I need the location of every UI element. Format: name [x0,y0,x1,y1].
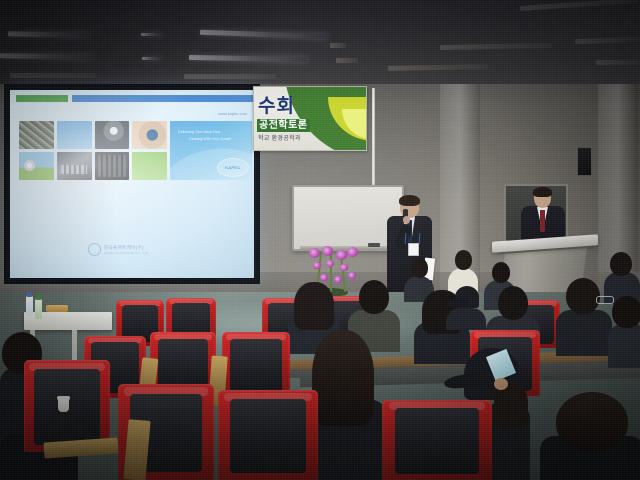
ceiling-light [8,31,88,37]
bottle-cap [27,292,32,297]
ceiling-light [200,30,328,39]
slide-url-text: www.kapec.com [218,112,247,116]
person-head [566,278,600,314]
front-table-leg [72,330,77,364]
banner-title: 수회 [258,97,295,116]
event-banner: 수회 공전학토론 학교 환경공학과 [253,86,367,151]
orchid-bloom [313,262,321,269]
water-bottle [35,299,42,319]
person-long-hair [312,330,374,426]
slide-thumb-drill [95,121,130,149]
ceiling-light [388,64,488,71]
company-name-sub: KOREA PLANTCARE CO., LTD [104,251,148,255]
podium-speaker-hair [533,187,552,197]
ceiling-light [184,74,276,79]
presenter-hair [399,195,420,206]
slide-thumb-blue-tile [57,121,92,149]
slide-thumb-hands-globe [132,121,167,149]
orchid-bloom [336,250,347,260]
slide-thumb-keyboard [95,152,130,180]
person-shoulders [608,324,640,368]
ceiling-light [336,58,358,63]
orchid-bloom [322,246,333,256]
banner-subtitle: 공전학토론 [257,119,310,132]
slide-thumb-machinery [57,152,92,180]
slide-tagline-line1: Delivering Your Value Now [178,130,220,134]
slide-tagline-panel: Delivering Your Value Now Growing With Y… [170,121,252,180]
podium-speaker-tie [540,210,545,232]
ceiling-light [142,57,162,60]
slide-thumb-industrial-parts [19,121,54,149]
slide-accent-bar-blue [72,95,254,102]
slide-thumb-green-tile [132,152,167,180]
ceiling-light [0,53,92,60]
person-hand [494,378,508,390]
snack-tray [46,305,68,312]
slide-company-logo: 한국플랜트케어(주) KOREA PLANTCARE CO., LTD [88,243,148,256]
audience-person-with-glasses [556,278,612,354]
auditorium-seat[interactable] [222,332,290,398]
slide-thumbnail-grid [19,121,167,183]
slide-thumb-wheel-field [19,152,54,180]
person-hair [494,384,528,430]
orchid-bloom [326,260,334,267]
company-name-kr: 한국플랜트케어(주) [104,245,148,251]
person-long-hair [294,282,334,330]
orchid-bloom [320,274,328,281]
person-shoulders [446,308,486,330]
auditorium-seat[interactable] [218,390,318,480]
orchid-bloom [347,247,358,257]
ceiling-light [575,37,639,44]
coffee-cup [58,398,69,412]
presenter-name-badge [408,243,419,256]
ceiling-light [596,60,640,65]
projected-slide: www.kapec.com Delivering Your Value [10,90,254,278]
seat-cushion [230,399,306,473]
orchid-bloom [340,264,348,271]
banner-small-line: 학교 환경공학과 [258,133,301,142]
ceiling-light [10,73,96,78]
person-head [359,280,389,314]
audience-person [608,296,640,366]
person-head [610,252,632,276]
water-bottle [26,296,33,316]
ceiling-light [520,0,638,11]
seat-cushion [230,339,282,393]
seat-cushion [395,408,479,474]
person-shoulders [556,310,612,356]
ceiling-light [330,43,346,48]
ceiling-light [141,33,163,36]
presenter-hand [403,216,410,224]
person-head [455,250,472,270]
person-head [556,392,628,452]
person-head [492,262,510,283]
bottle-cap [36,295,41,300]
slide-tagline-line2: Growing With Your Growth [189,137,231,141]
banner-support-pole [372,88,375,200]
cup-lid [57,396,70,400]
auditorium-seat[interactable] [382,400,492,480]
orchid-bloom [348,272,356,279]
baseball-cap [455,286,479,308]
slide-accent-bar-green [16,95,68,102]
ceiling-light [189,55,307,62]
person-head [411,258,428,278]
wall-mounted-speaker [577,147,592,176]
person-head [612,296,640,328]
projection-screen: www.kapec.com Delivering Your Value [4,84,260,284]
cap-brim [446,297,469,308]
company-logo-mark-icon [88,243,101,256]
ceiling [0,0,640,92]
audience-person [540,392,640,480]
ceiling-light [440,43,552,50]
orchid-bloom [309,248,320,258]
photo-scene: www.kapec.com Delivering Your Value [0,0,640,480]
slide-watermark: KAPEC [217,158,249,177]
audience-person-with-cap [446,286,486,326]
person-head [498,286,528,320]
